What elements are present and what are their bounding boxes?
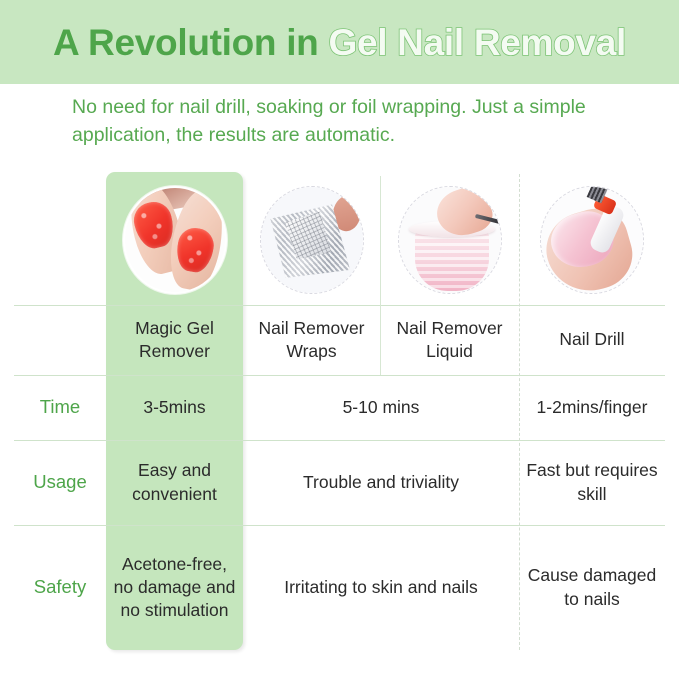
nail-remover-wraps-photo xyxy=(260,186,364,294)
cell-time-nail-drill: 1-2mins/finger xyxy=(519,375,665,440)
header-banner: A Revolution in Gel Nail Removal xyxy=(0,0,679,84)
cell-time-magic-gel-remover: 3-5mins xyxy=(106,375,243,440)
nail-drill-photo xyxy=(540,186,644,294)
cell-safety-nail-drill: Cause damaged to nails xyxy=(519,525,665,650)
cell-safety-merged-middle: Irritating to skin and nails xyxy=(243,525,519,650)
subtitle-text: No need for nail drill, soaking or foil … xyxy=(72,94,617,149)
header-row-corner xyxy=(14,305,106,375)
cell-usage-magic-gel-remover: Easy and convenient xyxy=(106,440,243,525)
photo-circle-2 xyxy=(260,186,364,294)
row-label-usage: Usage xyxy=(14,440,106,525)
cell-usage-merged-middle: Trouble and triviality xyxy=(243,440,519,525)
page-title: A Revolution in Gel Nail Removal xyxy=(53,24,626,61)
page-title-part-2: Gel Nail Removal xyxy=(328,22,626,63)
row-label-time: Time xyxy=(14,375,106,440)
photo-circle-3 xyxy=(398,186,502,294)
magic-gel-remover-photo xyxy=(123,186,227,294)
comparison-table: Magic Gel Remover Nail Remover Wraps Nai… xyxy=(0,172,679,655)
comparison-infographic: A Revolution in Gel Nail Removal No need… xyxy=(0,0,679,679)
cell-safety-magic-gel-remover: Acetone-free, no damage and no stimulati… xyxy=(106,525,243,650)
photo-circle-1 xyxy=(123,186,227,294)
column-header-magic-gel-remover: Magic Gel Remover xyxy=(106,305,243,375)
cell-time-merged-middle: 5-10 mins xyxy=(243,375,519,440)
column-header-nail-remover-wraps: Nail Remover Wraps xyxy=(243,305,380,375)
column-header-nail-drill: Nail Drill xyxy=(519,305,665,375)
cell-usage-nail-drill: Fast but requires skill xyxy=(519,440,665,525)
row-label-safety: Safety xyxy=(14,525,106,650)
photo-circle-4 xyxy=(540,186,644,294)
nail-remover-liquid-photo xyxy=(398,186,502,294)
page-title-part-1: A Revolution in xyxy=(53,22,328,63)
column-header-nail-remover-liquid: Nail Remover Liquid xyxy=(380,305,519,375)
